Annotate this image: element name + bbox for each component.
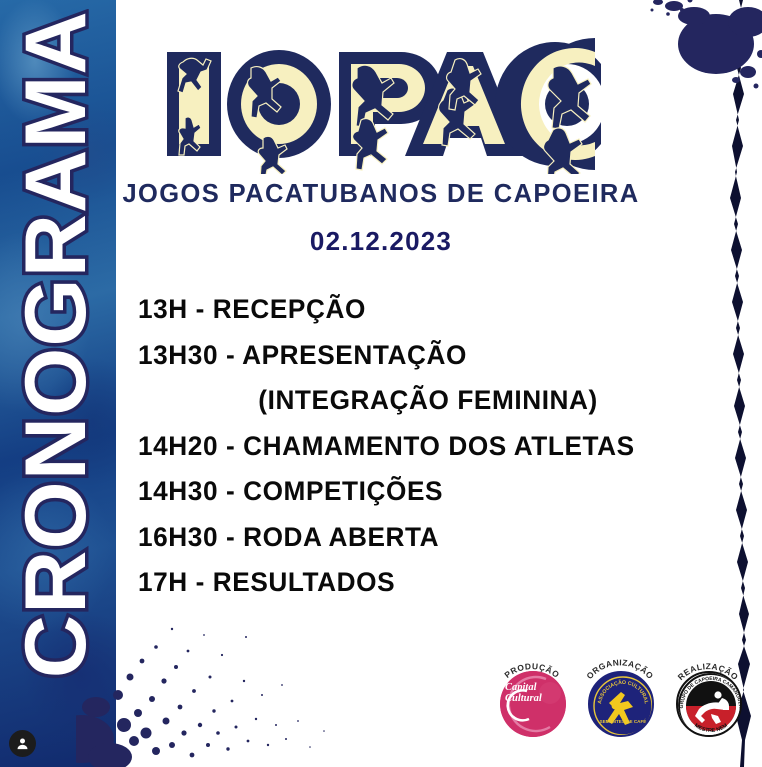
camangula-mark: GRUPO DE CAPOEIRA CAMANGULA MESTRE NEM xyxy=(678,673,742,737)
event-logo-block: JOGOS PACATUBANOS DE CAPOEIRA 02.12.2023 xyxy=(0,34,762,257)
sponsor-badge-sementes-de-cafe: ASSOCIAÇÃO CULTURAL SEMENTES DE CAFÉ xyxy=(588,671,654,737)
sementes-de-cafe-mark: ASSOCIAÇÃO CULTURAL SEMENTES DE CAFÉ xyxy=(590,673,654,737)
schedule-item-sub: (INTEGRAÇÃO FEMININA) xyxy=(138,387,720,414)
schedule-item: 17H - RESULTADOS xyxy=(138,569,720,596)
schedule-item: 13H - RECEPÇÃO xyxy=(138,296,720,323)
poster-canvas: CRONOGRAMA xyxy=(0,0,762,767)
sponsor-name-line2: Cultural xyxy=(505,693,542,704)
sponsor-name-line1: Capital xyxy=(505,682,542,693)
sponsor-logo-row: PRODUÇÃO Capital Cultural O xyxy=(492,657,748,749)
schedule-list: 13H - RECEPÇÃO 13H30 - APRESENTAÇÃO (INT… xyxy=(138,296,738,615)
logo-subtitle: JOGOS PACATUBANOS DE CAPOEIRA xyxy=(122,180,639,209)
sponsor-badge-camangula: GRUPO DE CAPOEIRA CAMANGULA MESTRE NEM xyxy=(676,671,742,737)
sponsor-producao: PRODUÇÃO Capital Cultural xyxy=(492,657,572,749)
capital-cultural-name: Capital Cultural xyxy=(505,682,542,704)
schedule-item: 16H30 - RODA ABERTA xyxy=(138,524,720,551)
sponsor-realizacao: REALIZAÇÃO GRUPO DE CAPOEIRA CAMANGULA xyxy=(668,657,748,749)
iopac-wordmark-logo xyxy=(155,34,607,174)
ink-splatter-bottom-left xyxy=(76,621,376,767)
schedule-item: 13H30 - APRESENTAÇÃO xyxy=(138,342,720,369)
person-icon xyxy=(15,736,30,751)
sponsor-organizacao: ORGANIZAÇÃO ASSOCIAÇÃO CULTURAL xyxy=(580,657,660,749)
schedule-item: 14H30 - COMPETIÇÕES xyxy=(138,478,720,505)
sponsor-name-line2: SEMENTES DE CAFÉ xyxy=(600,717,647,724)
avatar-badge[interactable] xyxy=(9,730,36,757)
schedule-item: 14H20 - CHAMAMENTO DOS ATLETAS xyxy=(138,433,720,460)
event-date: 02.12.2023 xyxy=(310,226,452,257)
